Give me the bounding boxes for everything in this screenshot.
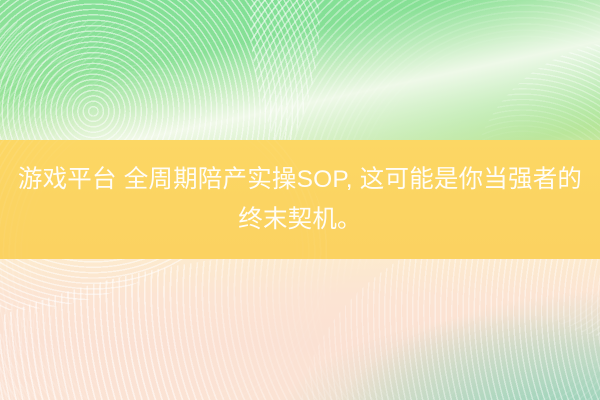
caption-band: 游戏平台 全周期陪产实操SOP, 这可能是你当强者的终末契机。 [0, 140, 600, 259]
banner-caption-text: 游戏平台 全周期陪产实操SOP, 这可能是你当强者的终末契机。 [16, 160, 584, 240]
promo-banner: 游戏平台 全周期陪产实操SOP, 这可能是你当强者的终末契机。 [0, 0, 600, 400]
